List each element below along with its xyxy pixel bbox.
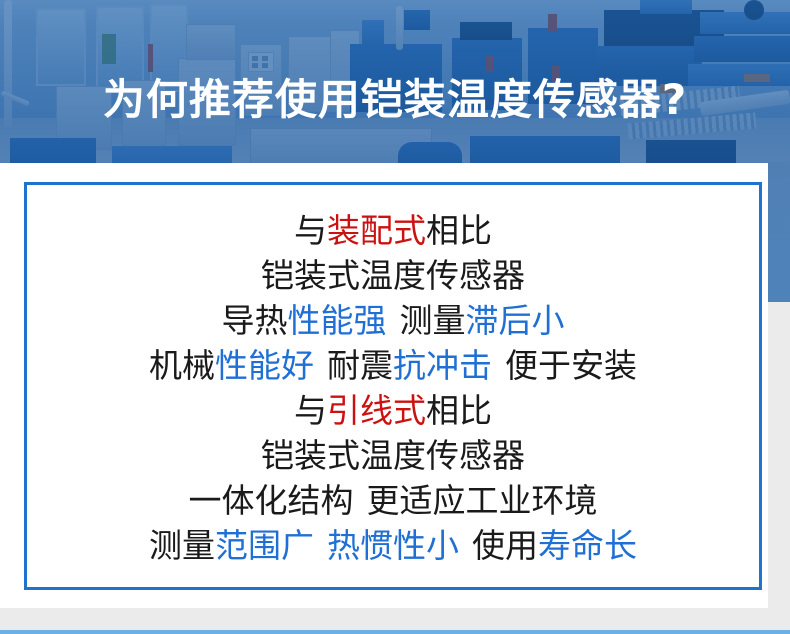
- text-segment: 铠装式温度传感器: [261, 256, 525, 295]
- keyword-blue: 寿命长: [538, 526, 637, 565]
- keyword-red: 装配式: [327, 211, 426, 250]
- text-segment: 使用: [472, 526, 538, 565]
- text-segment: 更适应工业环境: [367, 481, 598, 520]
- text-segment: 与: [294, 211, 327, 250]
- keyword-blue: 范围广: [215, 526, 314, 565]
- keyword-blue: 性能好: [215, 346, 314, 385]
- feature-line: 测量范围广热惯性小使用寿命长: [149, 523, 637, 568]
- feature-line: 机械性能好耐震抗冲击便于安装: [149, 343, 637, 388]
- text-segment: 相比: [426, 391, 492, 430]
- right-gray-band: [768, 302, 790, 608]
- feature-line: 与装配式相比: [294, 208, 492, 253]
- keyword-blue: 抗冲击: [393, 346, 492, 385]
- text-segment: 与: [294, 391, 327, 430]
- text-segment: 一体化结构: [189, 481, 354, 520]
- text-segment: 测量: [400, 301, 466, 340]
- footer-blue-band: [0, 630, 790, 634]
- keyword-blue: 滞后小: [466, 301, 565, 340]
- text-segment: 相比: [426, 211, 492, 250]
- keyword-blue: 热惯性小: [327, 526, 459, 565]
- text-segment: 耐震: [327, 346, 393, 385]
- feature-card: 与装配式相比铠装式温度传感器导热性能强测量滞后小机械性能好耐震抗冲击便于安装与引…: [0, 163, 768, 608]
- feature-line: 与引线式相比: [294, 388, 492, 433]
- text-segment: 便于安装: [505, 346, 637, 385]
- feature-line: 铠装式温度传感器: [261, 433, 525, 478]
- text-segment: 测量: [149, 526, 215, 565]
- keyword-red: 引线式: [327, 391, 426, 430]
- keyword-blue: 性能强: [288, 301, 387, 340]
- footer-gray-band: [0, 608, 790, 630]
- text-segment: 机械: [149, 346, 215, 385]
- product-detail-page: 为何推荐使用铠装温度传感器? 与装配式相比铠装式温度传感器导热性能强测量滞后小机…: [0, 0, 790, 634]
- text-segment: 铠装式温度传感器: [261, 436, 525, 475]
- feature-line: 一体化结构更适应工业环境: [189, 478, 598, 523]
- feature-text-block: 与装配式相比铠装式温度传感器导热性能强测量滞后小机械性能好耐震抗冲击便于安装与引…: [24, 182, 762, 590]
- text-segment: 导热: [222, 301, 288, 340]
- feature-line: 导热性能强测量滞后小: [222, 298, 565, 343]
- feature-line: 铠装式温度传感器: [261, 253, 525, 298]
